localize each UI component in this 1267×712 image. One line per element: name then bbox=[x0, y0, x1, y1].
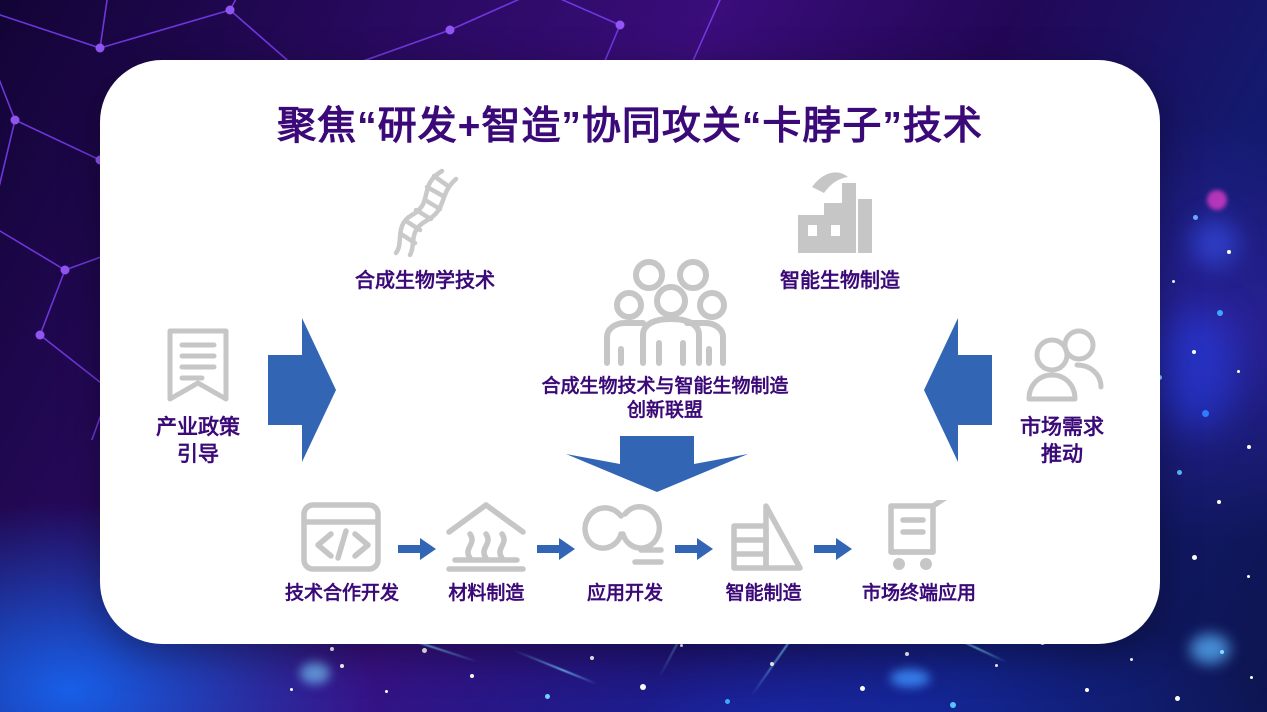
left-driver-node[interactable]: 产业政策 引导 bbox=[118, 325, 278, 469]
chain-arrow-1 bbox=[536, 500, 576, 560]
smart-manufacturing-icon bbox=[714, 500, 813, 574]
shopping-cart-icon bbox=[853, 500, 985, 574]
chain-item-2-label: 应用开发 bbox=[576, 582, 675, 606]
dna-helix-icon bbox=[310, 165, 540, 257]
chain-item-4-label: 市场终端应用 bbox=[853, 582, 985, 606]
chain-item-4[interactable]: 市场终端应用 bbox=[853, 500, 985, 606]
chain-item-3[interactable]: 智能制造 bbox=[714, 500, 813, 606]
top-node-0-label: 合成生物学技术 bbox=[310, 269, 540, 295]
chain-link-icon bbox=[576, 500, 675, 574]
arrow-down-wide-icon bbox=[562, 432, 752, 499]
chain-arrow-2 bbox=[674, 500, 714, 560]
document-policy-icon bbox=[118, 325, 278, 405]
chain-item-1[interactable]: 材料制造 bbox=[437, 500, 536, 606]
factory-icon bbox=[725, 165, 955, 257]
right-driver-label: 市场需求 推动 bbox=[982, 415, 1142, 469]
chain-arrow-3 bbox=[813, 500, 853, 560]
chain-item-0-label: 技术合作开发 bbox=[285, 582, 397, 606]
top-node-0[interactable]: 合成生物学技术 bbox=[310, 165, 540, 295]
page-title: 聚焦“研发+智造”协同攻关“卡脖子”技术 bbox=[100, 95, 1160, 151]
chain-item-3-label: 智能制造 bbox=[714, 582, 813, 606]
chain-item-1-label: 材料制造 bbox=[437, 582, 536, 606]
chain-item-2[interactable]: 应用开发 bbox=[576, 500, 675, 606]
center-alliance-node[interactable]: 合成生物技术与智能生物制造 创新联盟 bbox=[515, 255, 815, 424]
content-card: 聚焦“研发+智造”协同攻关“卡脖子”技术 产业政策 引导 bbox=[100, 60, 1160, 644]
right-driver-node[interactable]: 市场需求 推动 bbox=[982, 325, 1142, 469]
arrow-right-thick-icon bbox=[262, 310, 342, 475]
chain-item-0[interactable]: 技术合作开发 bbox=[285, 500, 397, 606]
material-furnace-icon bbox=[437, 500, 536, 574]
slide-canvas: 聚焦“研发+智造”协同攻关“卡脖子”技术 产业政策 引导 bbox=[0, 0, 1267, 712]
left-driver-label: 产业政策 引导 bbox=[118, 415, 278, 469]
center-alliance-label: 合成生物技术与智能生物制造 创新联盟 bbox=[515, 375, 815, 424]
value-chain-row: 技术合作开发 bbox=[285, 500, 985, 606]
group-people-icon bbox=[515, 255, 815, 367]
two-people-icon bbox=[982, 325, 1142, 405]
code-window-icon bbox=[285, 500, 397, 574]
chain-arrow-0 bbox=[397, 500, 437, 560]
